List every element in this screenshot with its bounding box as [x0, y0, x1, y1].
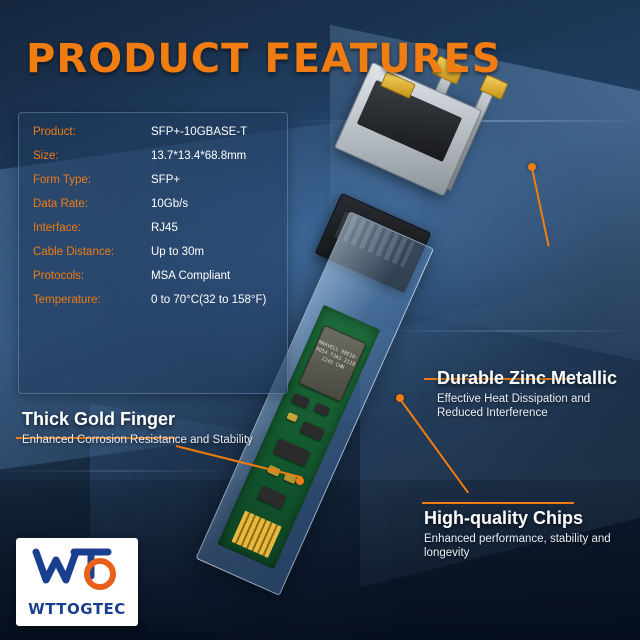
table-row: Cable Distance: Up to 30m	[19, 240, 287, 264]
gold-finger-contacts	[231, 511, 281, 558]
product-feature-image: MARVELL 88E10-8Q54 TJA5 2118 2245 CHN PR…	[0, 0, 640, 640]
chip-label: MARVELL 88E10-8Q54 TJA5 2118 2245 CHN	[311, 339, 360, 376]
table-row: Data Rate: 10Gb/s	[19, 192, 287, 216]
spec-value: 10Gb/s	[137, 192, 287, 216]
spec-key: Cable Distance:	[19, 240, 137, 264]
spec-key: Data Rate:	[19, 192, 137, 216]
callout-gold-finger: Thick Gold Finger Enhanced Corrosion Res…	[22, 409, 278, 447]
spec-value: 0 to 70°C(32 to 158°F)	[137, 288, 287, 312]
callout-underline-chips	[422, 502, 574, 504]
logo-text: WTTOGTEC	[16, 600, 138, 618]
spec-key: Temperature:	[19, 288, 137, 312]
spec-value: Up to 30m	[137, 240, 287, 264]
chip-small	[314, 403, 330, 417]
spec-value: 13.7*13.4*68.8mm	[137, 144, 287, 168]
brand-logo: WTTOGTEC	[16, 538, 138, 626]
smd-component	[286, 412, 298, 422]
spec-panel: Product: SFP+-10GBASE-T Size: 13.7*13.4*…	[18, 112, 288, 394]
spec-key: Product:	[19, 120, 137, 144]
logo-glyph-icon	[16, 546, 138, 592]
callout-desc: Effective Heat Dissipation and Reduced I…	[437, 392, 633, 420]
table-row: Form Type: SFP+	[19, 168, 287, 192]
chip-small	[291, 393, 310, 409]
table-row: Size: 13.7*13.4*68.8mm	[19, 144, 287, 168]
spec-key: Size:	[19, 144, 137, 168]
callout-desc: Enhanced performance, stability and long…	[424, 532, 624, 560]
table-row: Temperature: 0 to 70°C(32 to 158°F)	[19, 288, 287, 312]
callout-desc: Enhanced Corrosion Resistance and Stabil…	[22, 433, 278, 447]
chip-small	[300, 421, 325, 441]
table-row: Protocols: MSA Compliant	[19, 264, 287, 288]
page-title: PRODUCT FEATURES	[26, 36, 502, 82]
spec-key: Protocols:	[19, 264, 137, 288]
chip-small	[257, 486, 286, 509]
spec-table: Product: SFP+-10GBASE-T Size: 13.7*13.4*…	[19, 120, 287, 312]
spec-value: RJ45	[137, 216, 287, 240]
callout-title: Thick Gold Finger	[22, 409, 278, 430]
logo-mark-icon	[16, 546, 138, 592]
spec-key: Form Type:	[19, 168, 137, 192]
table-row: Product: SFP+-10GBASE-T	[19, 120, 287, 144]
callout-zinc: Durable Zinc Metallic Effective Heat Dis…	[437, 368, 633, 420]
spec-value: SFP+	[137, 168, 287, 192]
callout-title: Durable Zinc Metallic	[437, 368, 633, 389]
chip-small	[273, 438, 311, 466]
table-row: Interface: RJ45	[19, 216, 287, 240]
spec-key: Interface:	[19, 216, 137, 240]
callout-chips: High-quality Chips Enhanced performance,…	[424, 508, 624, 560]
callout-title: High-quality Chips	[424, 508, 624, 529]
spec-value: MSA Compliant	[137, 264, 287, 288]
spec-value: SFP+-10GBASE-T	[137, 120, 287, 144]
